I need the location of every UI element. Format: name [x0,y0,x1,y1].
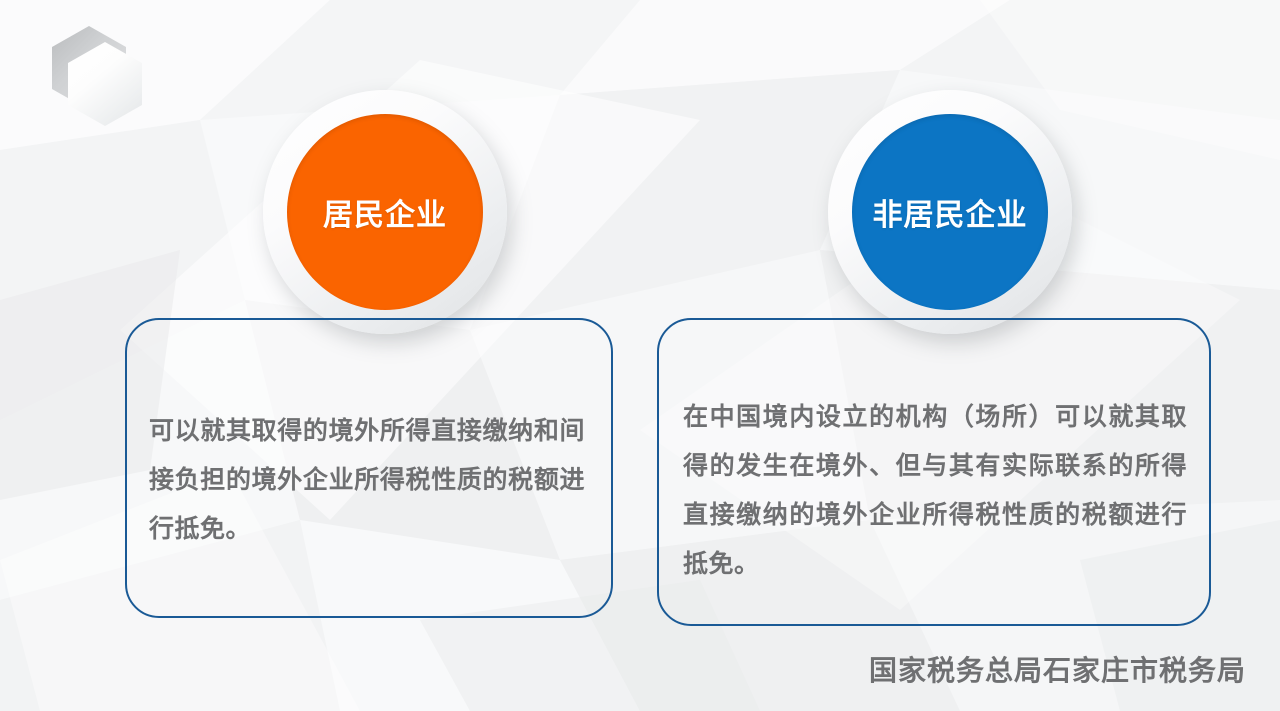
badge-circle-resident[interactable]: 居民企业 [263,90,507,334]
badge-circle-nonresident[interactable]: 非居民企业 [828,90,1072,334]
badge-label-resident: 居民企业 [323,190,447,234]
info-box-nonresident: 在中国境内设立的机构（场所）可以就其取得的发生在境外、但与其有实际联系的所得直接… [657,318,1211,626]
badge-fill-resident: 居民企业 [287,114,483,310]
info-box-resident: 可以就其取得的境外所得直接缴纳和间接负担的境外企业所得税性质的税额进行抵免。 [125,318,613,618]
badge-label-nonresident: 非居民企业 [873,190,1028,234]
badge-fill-nonresident: 非居民企业 [852,114,1048,310]
hexagon-logo [44,26,148,136]
footer-organization: 国家税务总局石家庄市税务局 [869,649,1246,689]
info-text-resident: 可以就其取得的境外所得直接缴纳和间接负担的境外企业所得税性质的税额进行抵免。 [149,407,585,554]
slide-canvas: 居民企业 非居民企业 可以就其取得的境外所得直接缴纳和间接负担的境外企业所得税性… [0,0,1280,711]
info-text-nonresident: 在中国境内设立的机构（场所）可以就其取得的发生在境外、但与其有实际联系的所得直接… [683,393,1187,589]
